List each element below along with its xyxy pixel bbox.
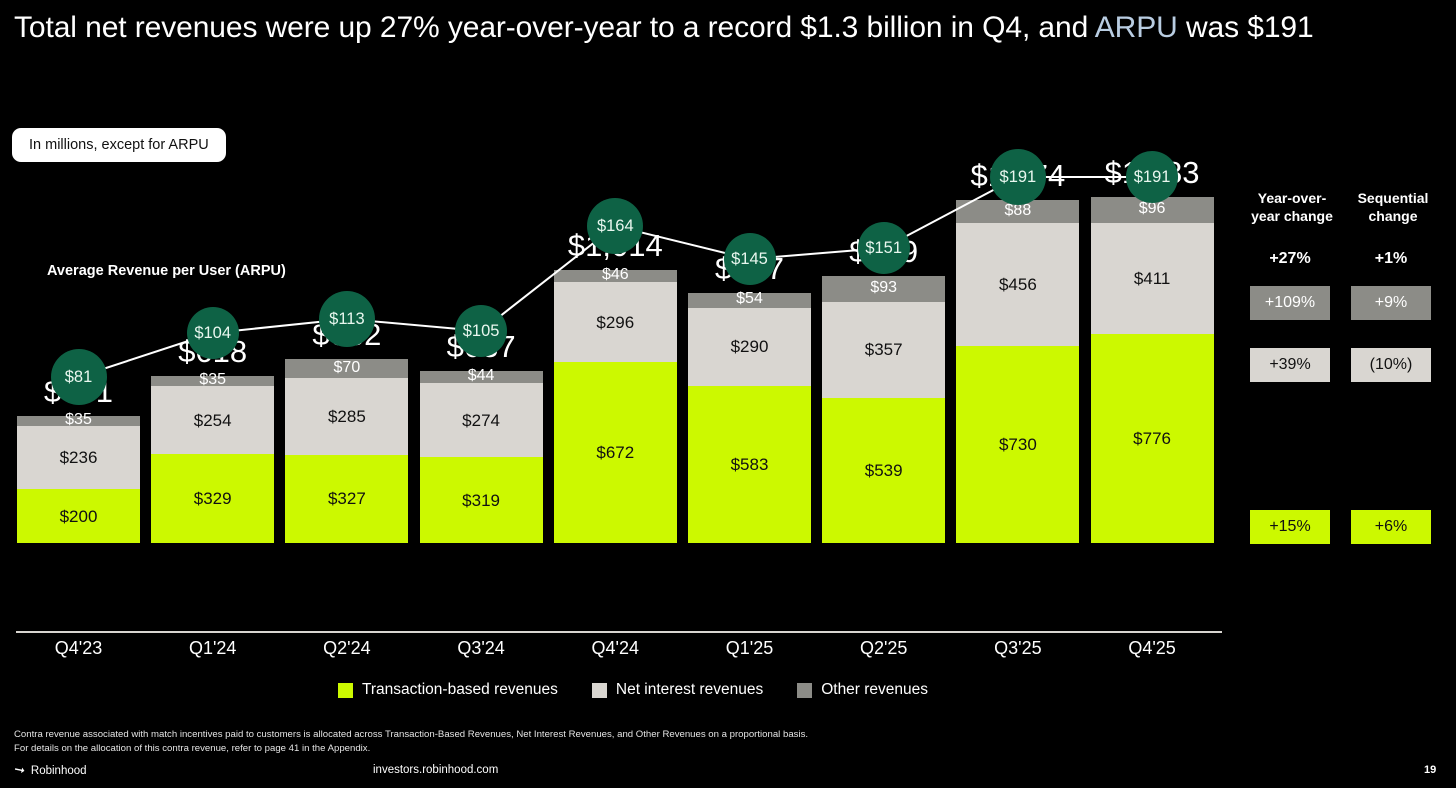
bar-segment-other[interactable]: $35: [17, 416, 140, 425]
bar-segment-other[interactable]: $44: [420, 371, 543, 383]
segment-value-label: $96: [1139, 201, 1166, 217]
legend-item-transaction[interactable]: Transaction-based revenues: [338, 681, 558, 699]
brand-name: Robinhood: [31, 765, 87, 777]
bar-group[interactable]: $319$274$44$637: [420, 371, 543, 543]
segment-value-label: $236: [60, 449, 98, 466]
footnote-line-1: Contra revenue associated with match inc…: [14, 728, 808, 742]
investor-site-url: investors.robinhood.com: [373, 764, 498, 776]
change-cell-sequential-net_interest: (10%): [1351, 348, 1431, 382]
segment-value-label: $54: [736, 291, 763, 307]
bar-group[interactable]: $776$411$96$1,283: [1091, 197, 1214, 543]
bar-group[interactable]: $583$290$54$927: [688, 293, 811, 543]
bar-segment-transaction[interactable]: $672: [554, 362, 677, 543]
x-axis-tick-Q325: Q3'25: [956, 638, 1079, 659]
bar-group[interactable]: $327$285$70$682: [285, 359, 408, 543]
arpu-bubble[interactable]: $81: [51, 349, 107, 405]
segment-value-label: $93: [870, 280, 897, 296]
chart-legend: Transaction-based revenuesNet interest r…: [338, 681, 928, 699]
segment-value-label: $776: [1133, 430, 1171, 447]
segment-value-label: $70: [334, 360, 361, 376]
bar-segment-transaction[interactable]: $319: [420, 457, 543, 543]
bar-segment-transaction[interactable]: $776: [1091, 334, 1214, 543]
x-axis-tick-Q324: Q3'24: [420, 638, 543, 659]
bar-segment-net-interest[interactable]: $411: [1091, 223, 1214, 334]
segment-value-label: $296: [596, 314, 634, 331]
segment-value-label: $319: [462, 492, 500, 509]
arpu-bubble[interactable]: $113: [319, 291, 375, 347]
bar-segment-net-interest[interactable]: $357: [822, 302, 945, 398]
legend-label: Net interest revenues: [616, 681, 763, 699]
segment-value-label: $44: [468, 368, 495, 384]
segment-value-label: $539: [865, 462, 903, 479]
bar-segment-other[interactable]: $35: [151, 376, 274, 385]
segment-value-label: $254: [194, 412, 232, 429]
slide: Total net revenues were up 27% year-over…: [0, 0, 1456, 788]
segment-value-label: $411: [1134, 270, 1171, 287]
x-axis-tick-Q423: Q4'23: [17, 638, 140, 659]
column-header-yoy: Year-over-year change: [1248, 190, 1336, 225]
segment-value-label: $46: [602, 267, 629, 283]
segment-value-label: $583: [731, 456, 769, 473]
segment-value-label: $327: [328, 490, 366, 507]
bar-segment-other[interactable]: $54: [688, 293, 811, 308]
bar-segment-net-interest[interactable]: $290: [688, 308, 811, 386]
change-cell-yoy-other: +109%: [1250, 286, 1330, 320]
arpu-bubble[interactable]: $191: [990, 149, 1046, 205]
legend-swatch-transaction: [338, 683, 353, 698]
bar-segment-net-interest[interactable]: $236: [17, 426, 140, 490]
bar-segment-net-interest[interactable]: $456: [956, 223, 1079, 346]
bar-segment-net-interest[interactable]: $274: [420, 383, 543, 457]
segment-value-label: $456: [999, 276, 1037, 293]
change-cell-sequential-transaction: +6%: [1351, 510, 1431, 544]
bar-segment-transaction[interactable]: $583: [688, 386, 811, 543]
bar-group[interactable]: $672$296$46$1,014: [554, 270, 677, 543]
arpu-bubble[interactable]: $105: [455, 305, 507, 357]
bar-segment-transaction[interactable]: $539: [822, 398, 945, 543]
bar-group[interactable]: $730$456$88$1,274: [956, 200, 1079, 543]
feather-icon: ➞: [13, 761, 27, 779]
legend-swatch-net_interest: [592, 683, 607, 698]
x-axis-tick-Q124: Q1'24: [151, 638, 274, 659]
bar-segment-transaction[interactable]: $327: [285, 455, 408, 543]
x-axis-tick-Q425: Q4'25: [1091, 638, 1214, 659]
x-axis-line: [16, 631, 1222, 633]
x-axis-tick-Q125: Q1'25: [688, 638, 811, 659]
legend-label: Transaction-based revenues: [362, 681, 558, 699]
arpu-bubble[interactable]: $145: [724, 233, 776, 285]
bar-segment-transaction[interactable]: $329: [151, 454, 274, 543]
chart-plot-area: $200$236$35$471$329$254$35$618$327$285$7…: [0, 0, 1240, 700]
change-cell-sequential-total: +1%: [1351, 248, 1431, 270]
bar-segment-net-interest[interactable]: $285: [285, 378, 408, 455]
bar-segment-net-interest[interactable]: $296: [554, 282, 677, 362]
segment-value-label: $200: [60, 508, 98, 525]
arpu-bubble[interactable]: $191: [1126, 151, 1178, 203]
page-number: 19: [1424, 764, 1436, 776]
bar-group[interactable]: $539$357$93$989: [822, 276, 945, 543]
segment-value-label: $285: [328, 408, 366, 425]
bar-segment-net-interest[interactable]: $254: [151, 386, 274, 454]
change-cell-yoy-transaction: +15%: [1250, 510, 1330, 544]
bar-segment-transaction[interactable]: $200: [17, 489, 140, 543]
brand-logo: ➞ Robinhood: [14, 763, 87, 779]
segment-value-label: $290: [731, 338, 769, 355]
change-cell-yoy-net_interest: +39%: [1250, 348, 1330, 382]
segment-value-label: $730: [999, 436, 1037, 453]
bar-segment-other[interactable]: $93: [822, 276, 945, 301]
segment-value-label: $35: [199, 372, 226, 388]
x-axis-tick-Q225: Q2'25: [822, 638, 945, 659]
arpu-bubble[interactable]: $104: [187, 307, 239, 359]
arpu-bubble[interactable]: $164: [587, 198, 643, 254]
x-axis-tick-Q224: Q2'24: [285, 638, 408, 659]
segment-value-label: $329: [194, 490, 232, 507]
segment-value-label: $672: [596, 444, 634, 461]
segment-value-label: $357: [865, 341, 903, 358]
bar-segment-other[interactable]: $70: [285, 359, 408, 378]
legend-swatch-other: [797, 683, 812, 698]
legend-item-other[interactable]: Other revenues: [797, 681, 928, 699]
x-axis-tick-Q424: Q4'24: [554, 638, 677, 659]
legend-item-net_interest[interactable]: Net interest revenues: [592, 681, 763, 699]
bar-group[interactable]: $200$236$35$471: [17, 416, 140, 543]
change-cell-sequential-other: +9%: [1351, 286, 1431, 320]
column-header-sequential: Sequential change: [1349, 190, 1437, 225]
segment-value-label: $274: [462, 412, 500, 429]
bar-segment-other[interactable]: $46: [554, 270, 677, 282]
segment-value-label: $35: [65, 412, 92, 428]
arpu-bubble[interactable]: $151: [858, 222, 910, 274]
footnotes: Contra revenue associated with match inc…: [14, 728, 808, 755]
footnote-line-2: For details on the allocation of this co…: [14, 742, 808, 756]
bar-segment-transaction[interactable]: $730: [956, 346, 1079, 543]
legend-label: Other revenues: [821, 681, 928, 699]
change-cell-yoy-total: +27%: [1250, 248, 1330, 270]
bar-group[interactable]: $329$254$35$618: [151, 376, 274, 543]
